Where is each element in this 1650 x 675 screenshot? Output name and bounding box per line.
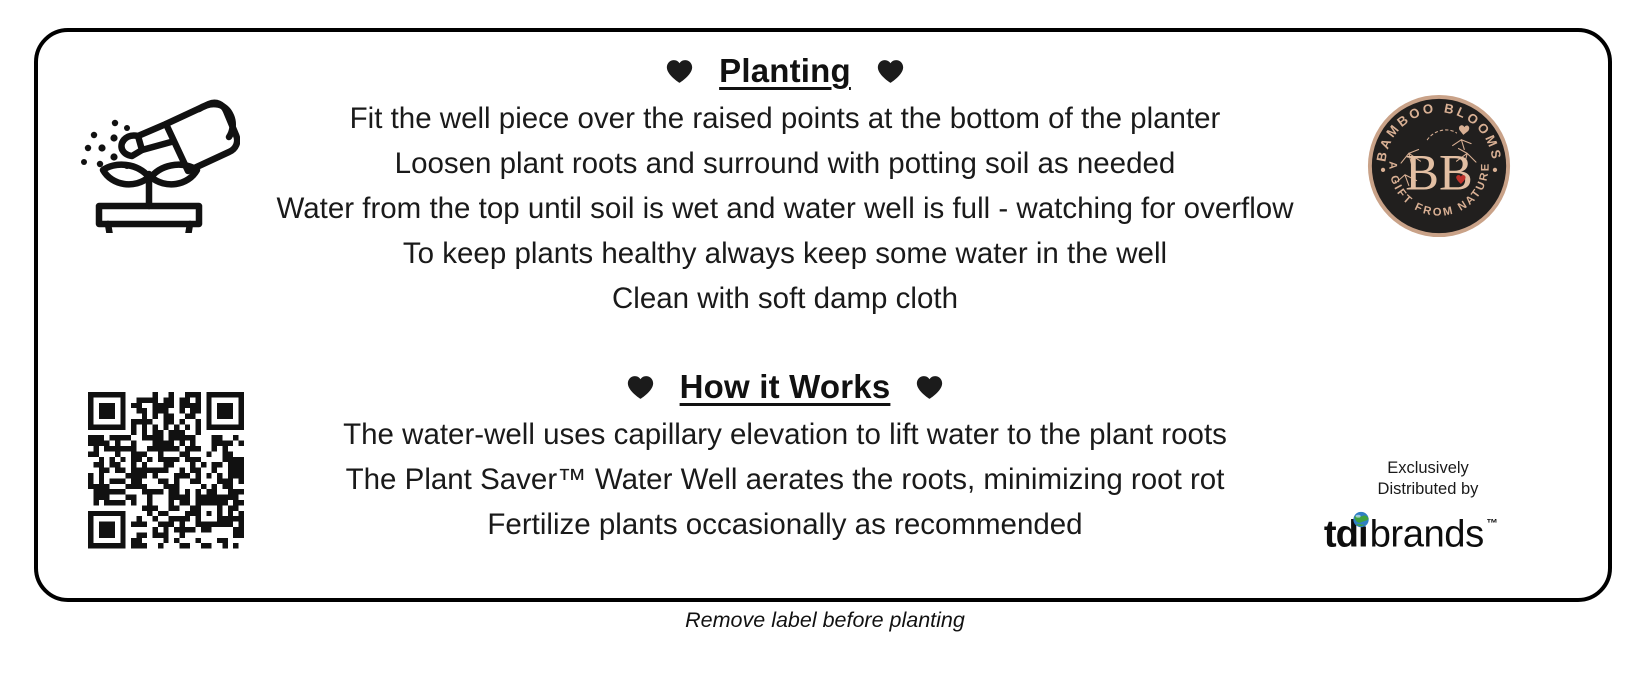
tdi-light-text: brands: [1370, 512, 1484, 554]
trademark-symbol: ™: [1486, 518, 1497, 530]
planting-line: Loosen plant roots and surround with pot…: [210, 141, 1360, 186]
heart-icon: [666, 59, 693, 84]
planting-line: To keep plants healthy always keep some …: [210, 231, 1360, 276]
how-it-works-line: Fertilize plants occasionally as recomme…: [210, 502, 1360, 547]
bamboo-blooms-logo: BAMBOO BLOOMS A GIFT FROM NATURE BB: [1366, 93, 1512, 239]
footer-note: Remove label before planting: [0, 608, 1650, 633]
plant-care-label: Planting Fit the well piece over the rai…: [0, 0, 1650, 675]
heart-icon: [877, 59, 904, 84]
distributor-line-1: Exclusively: [1318, 458, 1538, 479]
globe-icon: [1353, 512, 1368, 527]
how-it-works-line: The Plant Saver™ Water Well aerates the …: [210, 457, 1360, 502]
planting-heading: Planting: [719, 52, 851, 90]
how-it-works-section: How it Works The water-well uses capilla…: [210, 368, 1360, 547]
heart-icon: [627, 375, 654, 400]
planting-line: Fit the well piece over the raised point…: [210, 96, 1360, 141]
seal-monogram: BB: [1405, 144, 1473, 200]
planting-heading-row: Planting: [210, 52, 1360, 90]
how-it-works-heading: How it Works: [680, 368, 891, 406]
heart-icon: [916, 375, 943, 400]
tdi-brands-logo: tdi brands ™: [1318, 510, 1528, 554]
planting-line: Water from the top until soil is wet and…: [210, 186, 1360, 231]
planting-section: Planting Fit the well piece over the rai…: [210, 52, 1360, 321]
how-it-works-heading-row: How it Works: [210, 368, 1360, 406]
distributor-line-2: Distributed by: [1318, 479, 1538, 500]
how-it-works-line: The water-well uses capillary elevation …: [210, 412, 1360, 457]
planting-line: Clean with soft damp cloth: [210, 276, 1360, 321]
distributor-block: Exclusively Distributed by tdi brands ™: [1318, 458, 1538, 554]
